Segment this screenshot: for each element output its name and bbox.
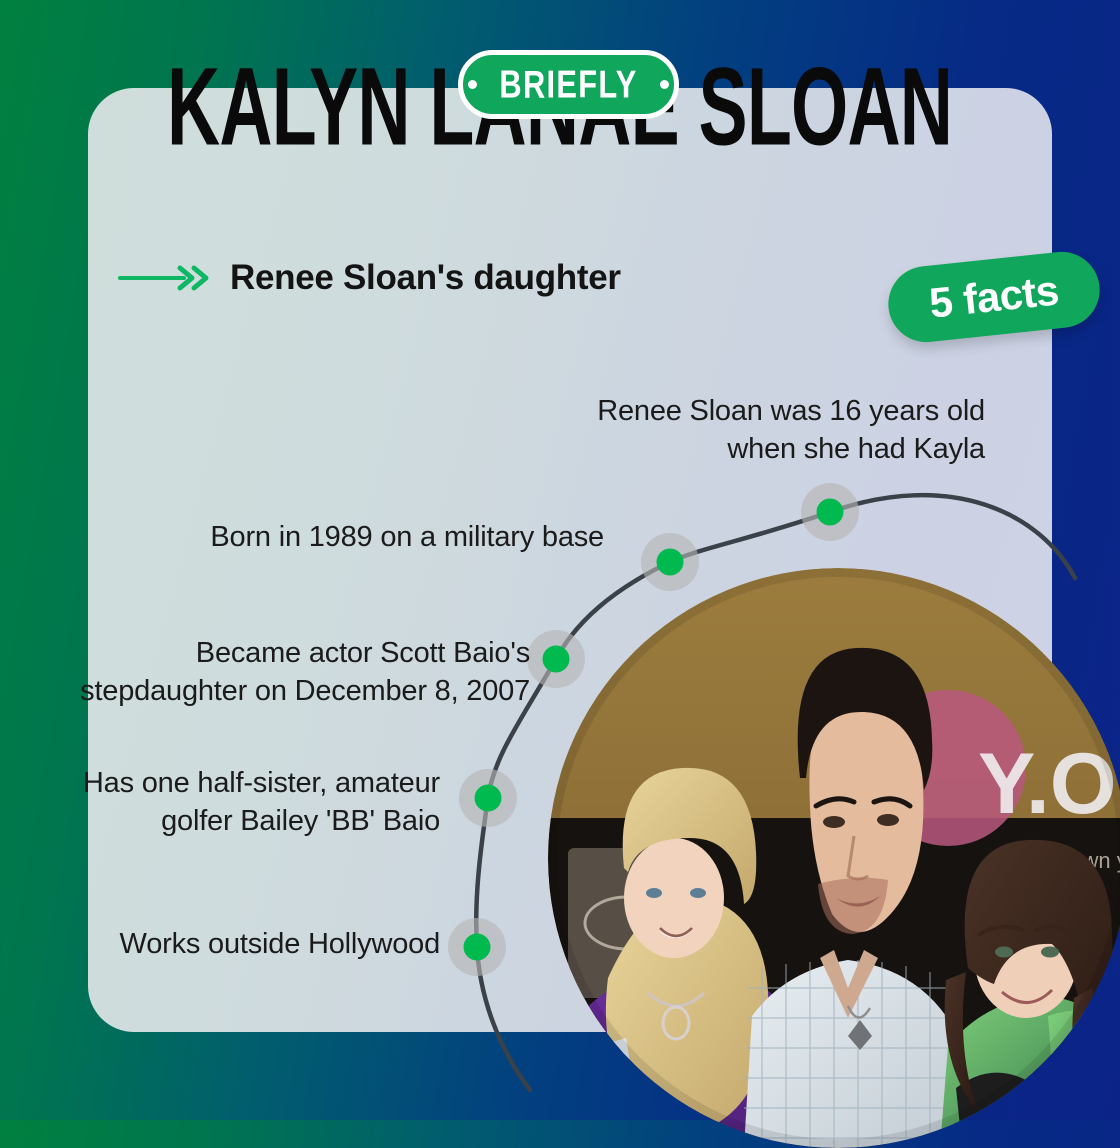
- fact-item: Works outside Hollywood: [80, 925, 440, 963]
- subtitle-row: Renee Sloan's daughter: [118, 258, 621, 298]
- fact-item: Became actor Scott Baio's stepdaughter o…: [70, 634, 530, 711]
- svg-text:Y.O.G: Y.O.G: [578, 1131, 618, 1148]
- fact-item: Renee Sloan was 16 years old when she ha…: [560, 392, 985, 469]
- fact-item: Has one half-sister, amateur golfer Bail…: [80, 764, 440, 841]
- svg-text:Y.O: Y.O: [978, 736, 1117, 832]
- facts-count-label: 5 facts: [927, 266, 1061, 327]
- subtitle-text: Renee Sloan's daughter: [230, 258, 621, 298]
- briefly-dot-right-icon: [660, 80, 669, 89]
- briefly-logo-badge[interactable]: BRIEFLY: [458, 50, 679, 119]
- fact-item: Born in 1989 on a military base: [180, 518, 604, 556]
- portrait-photo: Y.O g your own yogurt ns for ev B Y.O.G: [548, 568, 1120, 1148]
- portrait-photo-image: Y.O g your own yogurt ns for ev B Y.O.G: [548, 568, 1120, 1148]
- arrow-right-icon: [118, 263, 214, 293]
- briefly-wordmark: BRIEFLY: [499, 62, 637, 107]
- briefly-dot-left-icon: [468, 80, 477, 89]
- svg-text:B: B: [560, 1129, 572, 1148]
